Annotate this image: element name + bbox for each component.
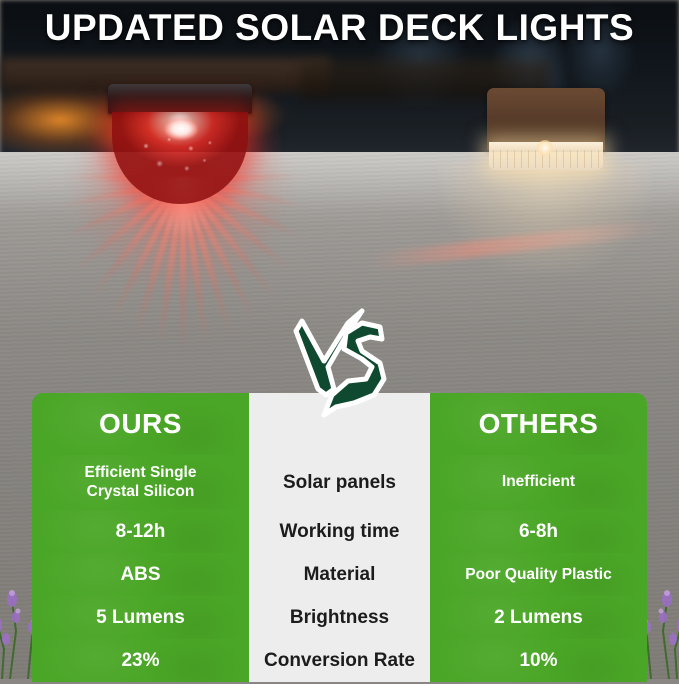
cell-others: 10% [430,639,647,682]
cell-feature: Material [249,553,430,596]
light-top-cap [108,84,252,114]
cell-feature: Working time [249,510,430,553]
cell-feature: Solar panels [249,455,430,510]
page-title: UPDATED SOLAR DECK LIGHTS [45,7,634,49]
cell-others: 6-8h [430,510,647,553]
our-solar-deck-light [60,84,300,314]
cell-ours: 23% [32,639,249,682]
competitor-bulb [537,140,553,156]
comparison-table: OURS OTHERS Efficient Single Crystal Sil… [32,393,647,683]
header-ours: OURS [32,393,249,455]
title-banner: UPDATED SOLAR DECK LIGHTS [0,0,679,56]
cell-others: 2 Lumens [430,596,647,639]
cell-feature: Brightness [249,596,430,639]
cell-ours: 8-12h [32,510,249,553]
table-row: Efficient Single Crystal Silicon Solar p… [32,455,647,510]
cell-ours: Efficient Single Crystal Silicon [32,455,249,510]
table-row: 23% Conversion Rate 10% [32,639,647,682]
cell-others: Poor Quality Plastic [430,553,647,596]
table-row: ABS Material Poor Quality Plastic [32,553,647,596]
competitor-deck-light [487,88,627,278]
cell-ours-line2: Crystal Silicon [87,483,195,500]
cell-ours: ABS [32,553,249,596]
cell-others: Inefficient [430,455,647,510]
light-hotspot [164,118,198,140]
table-row: 5 Lumens Brightness 2 Lumens [32,596,647,639]
cell-ours-line1: Efficient Single [85,464,197,481]
cell-feature: Conversion Rate [249,639,430,682]
product-scene: UPDATED SOLAR DECK LIGHTS [0,0,679,679]
table-row: 8-12h Working time 6-8h [32,510,647,553]
vs-logo [288,303,392,423]
header-others: OTHERS [430,393,647,455]
cell-ours: 5 Lumens [32,596,249,639]
